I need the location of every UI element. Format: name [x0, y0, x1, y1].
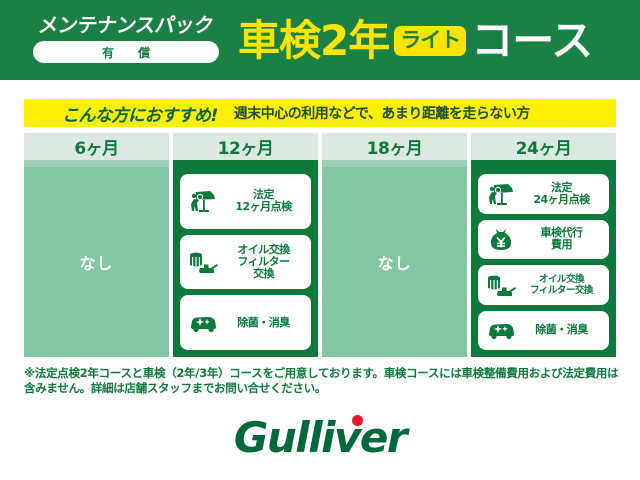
maintenance-pack-block: メンテナンスパック 有 償	[20, 13, 232, 69]
car-sparkle-icon	[186, 312, 220, 334]
service-chip: 除菌・消臭	[478, 311, 609, 351]
column-header-label: 12ヶ月	[218, 134, 274, 159]
money-bag-yen-icon	[484, 225, 518, 253]
service-chip-label: オイル交換フィルター交換	[518, 274, 605, 296]
column-rule	[471, 160, 616, 167]
table-column-24ヶ月: 24ヶ月 法定24ヶ月点検 車検代行費用 オイル交換フィルター交換	[471, 133, 616, 357]
car-on-lift-icon	[484, 179, 518, 209]
service-chip-label-line: 交換	[220, 268, 307, 280]
no-service-label: なし	[79, 250, 113, 274]
oil-filter-icon	[186, 248, 220, 276]
column-body-services: 法定12ヶ月点検 オイル交換フィルター交換 除菌・消臭	[173, 167, 318, 357]
table-column-12ヶ月: 12ヶ月 法定12ヶ月点検 オイル交換フィルター交換 除菌・消臭	[173, 133, 318, 357]
service-chip-label: 除菌・消臭	[518, 324, 605, 336]
recommendation-detail: 週末中心の利用などで、あまり距離を走らない方	[234, 103, 530, 123]
paid-badge-label: 有 償	[96, 44, 156, 61]
service-chip-label-line: 24ヶ月点検	[518, 194, 605, 206]
recommendation-heading: こんな方におすすめ!	[62, 101, 218, 126]
service-chip-label-line: 12ヶ月点検	[220, 201, 307, 213]
maintenance-schedule-table: 6ヶ月なし12ヶ月 法定12ヶ月点検 オイル交換フィルター交換 除菌・消臭18ヶ…	[24, 133, 616, 357]
footnote: ※法定点検2年コースと車検（2年/3年）コースをご用意しております。車検コースに…	[24, 366, 620, 396]
service-chip-label-line: 除菌・消臭	[220, 317, 307, 329]
service-chip: オイル交換フィルター交換	[180, 235, 311, 290]
column-header-label: 6ヶ月	[74, 134, 118, 159]
column-header: 12ヶ月	[173, 133, 318, 160]
service-chip: オイル交換フィルター交換	[478, 265, 609, 305]
service-chip-label-line: 除菌・消臭	[518, 324, 605, 336]
main-title: 車検2年 ライト コース	[238, 12, 592, 70]
service-chip-label: オイル交換フィルター交換	[220, 244, 307, 280]
column-rule	[24, 160, 169, 167]
service-chip-label-line: 費用	[518, 239, 605, 251]
main-title-shaken-2year: 車検2年	[238, 19, 389, 63]
oil-filter-icon	[484, 271, 518, 299]
gulliver-logo-dot	[352, 415, 363, 426]
gulliver-logo-text: Gulliver	[234, 413, 406, 462]
column-body-empty: なし	[24, 167, 169, 357]
maintenance-pack-infographic: { "banner": { "pack_title": "メンテナンスパック",…	[0, 0, 640, 480]
brand-logo-area: Gulliver	[0, 412, 640, 462]
service-chip-label: 法定24ヶ月点検	[518, 182, 605, 206]
main-title-course: コース	[471, 19, 592, 63]
column-header: 18ヶ月	[322, 133, 467, 160]
gulliver-logo: Gulliver	[234, 413, 406, 462]
car-on-lift-icon	[186, 186, 220, 216]
top-banner: メンテナンスパック 有 償 車検2年 ライト コース	[0, 0, 640, 80]
service-chip: 車検代行費用	[478, 220, 609, 260]
service-chip-label-line: オイル交換	[518, 274, 605, 285]
service-chip-label-line: フィルター交換	[518, 285, 605, 296]
column-header: 24ヶ月	[471, 133, 616, 160]
column-rule	[322, 160, 467, 167]
car-sparkle-icon	[484, 319, 518, 341]
table-column-6ヶ月: 6ヶ月なし	[24, 133, 169, 357]
service-chip-label-line: 法定	[518, 182, 605, 194]
service-chip: 法定12ヶ月点検	[180, 174, 311, 229]
no-service-label: なし	[377, 250, 411, 274]
service-chip: 除菌・消臭	[180, 295, 311, 350]
light-course-badge: ライト	[394, 26, 466, 56]
paid-badge: 有 償	[33, 41, 219, 63]
footnote-line-1: ※法定点検2年コースと車検（2年/3年）コースをご用意しております。車検コースに…	[24, 366, 618, 380]
column-body-services: 法定24ヶ月点検 車検代行費用 オイル交換フィルター交換 除菌・消臭	[471, 167, 616, 357]
table-column-18ヶ月: 18ヶ月なし	[322, 133, 467, 357]
column-rule	[173, 160, 318, 167]
footnote-line-2: 含みません。詳細は店舗スタッフまでお問い合せください。	[24, 381, 326, 395]
service-chip: 法定24ヶ月点検	[478, 174, 609, 214]
maintenance-pack-title: メンテナンスパック	[18, 13, 233, 37]
service-chip-label: 車検代行費用	[518, 227, 605, 251]
service-chip-label: 法定12ヶ月点検	[220, 189, 307, 213]
column-header: 6ヶ月	[24, 133, 169, 160]
column-body-empty: なし	[322, 167, 467, 357]
column-header-label: 24ヶ月	[516, 134, 572, 159]
column-header-label: 18ヶ月	[367, 134, 423, 159]
recommendation-bar: こんな方におすすめ! 週末中心の利用などで、あまり距離を走らない方	[24, 99, 616, 127]
service-chip-label: 除菌・消臭	[220, 317, 307, 329]
